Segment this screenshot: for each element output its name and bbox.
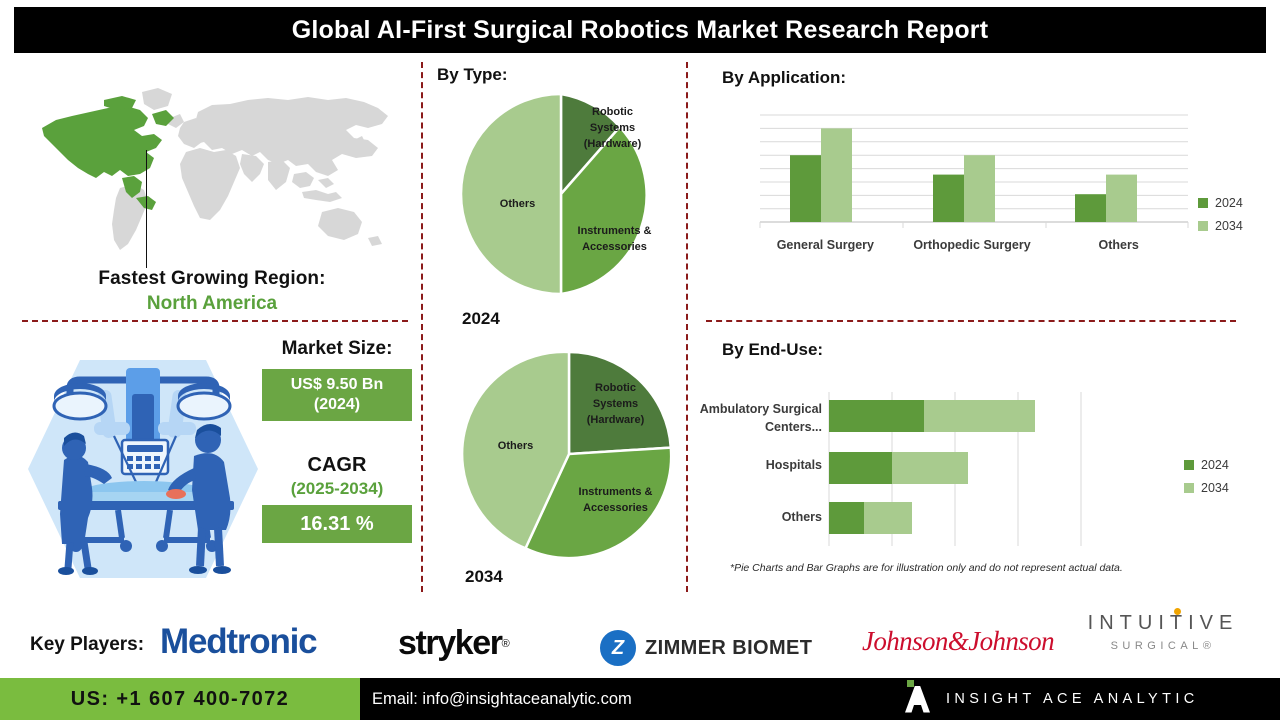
by-enduse-legend: 2024 2034 (1184, 458, 1229, 504)
footer-email-text: Email: info@insightaceanalytic.com (372, 690, 632, 709)
divider-vertical-left (421, 62, 423, 592)
legend-swatch-2024 (1198, 198, 1208, 208)
intuitive-wordmark: INTUITIVE (1068, 612, 1258, 635)
cagr-years: (2025-2034) (262, 479, 412, 499)
fastest-growing-region-title: Fastest Growing Region: (16, 268, 408, 290)
header-bar: Global AI-First Surgical Robotics Market… (14, 7, 1266, 53)
divider-horizontal-right (706, 320, 1236, 322)
footer-phone-text: US: +1 607 400-7072 (71, 688, 289, 711)
bar-category-label: General Surgery (752, 238, 899, 252)
by-application-title: By Application: (722, 68, 846, 88)
by-application-legend: 2024 2034 (1198, 196, 1243, 242)
market-size-value: US$ 9.50 Bn (291, 375, 383, 395)
zimmer-z-mark: Z (600, 630, 636, 666)
cagr-title: CAGR (262, 454, 412, 477)
by-application-categories: General Surgery Orthopedic Surgery Other… (752, 238, 1192, 252)
page-title: Global AI-First Surgical Robotics Market… (292, 16, 989, 45)
bar-category-label: Orthopedic Surgery (899, 238, 1046, 252)
logo-johnson-and-johnson: Johnson&Johnson (862, 626, 1054, 657)
pie-2034-year: 2034 (465, 567, 503, 587)
legend-swatch-2024 (1184, 460, 1194, 470)
hbar-category-label: Others (690, 508, 822, 526)
logo-medtronic: Medtronic (160, 622, 316, 662)
legend-label-2024: 2024 (1215, 196, 1243, 210)
infographic-page: Global AI-First Surgical Robotics Market… (0, 0, 1280, 720)
footer-brand-text: INSIGHT ACE ANALYTIC (946, 691, 1199, 707)
key-players-label: Key Players: (30, 634, 144, 656)
by-enduse-category-labels: Ambulatory Surgical Centers... Hospitals… (690, 392, 822, 546)
pie-2034-label-robotic: Robotic Systems (Hardware) (568, 381, 663, 429)
intuitive-subtext: SURGICAL® (1068, 640, 1258, 652)
brand-accent-dot-icon (907, 680, 914, 687)
fastest-growing-region: Fastest Growing Region: North America (16, 268, 408, 315)
legend-swatch-2034 (1198, 221, 1208, 231)
legend-item-2034: 2034 (1184, 481, 1229, 495)
pie-2024-label-robotic: Robotic Systems (Hardware) (565, 105, 660, 153)
market-size-year: (2024) (314, 395, 360, 415)
robotic-surgery-illustration (18, 352, 268, 586)
footer-phone-block[interactable]: US: +1 607 400-7072 (0, 678, 360, 720)
hbar-category-label: Ambulatory Surgical Centers... (690, 400, 822, 436)
hbar-category-label: Hospitals (690, 456, 822, 474)
pie-2034-label-instruments: Instruments & Accessories (568, 485, 663, 517)
insight-ace-a-logo-icon (905, 686, 930, 713)
legend-item-2034: 2034 (1198, 219, 1243, 233)
bar-category-label: Others (1045, 238, 1192, 252)
by-application-bar-chart (752, 112, 1192, 234)
cagr-value: 16.31 % (300, 512, 373, 536)
divider-vertical-right (686, 62, 688, 592)
pie-2024-label-others: Others (470, 197, 565, 213)
market-size-block: Market Size: US$ 9.50 Bn (2024) CAGR (20… (262, 338, 412, 543)
pie-2034-label-others: Others (468, 439, 563, 455)
map-leader-line (146, 150, 147, 268)
fastest-growing-region-value: North America (16, 293, 408, 315)
logo-stryker: stryker® (398, 624, 510, 663)
legend-swatch-2034 (1184, 483, 1194, 493)
legend-item-2024: 2024 (1184, 458, 1229, 472)
logo-intuitive-surgical: INTUITIVE SURGICAL® (1068, 612, 1258, 652)
by-enduse-title: By End-Use: (722, 340, 823, 360)
footer-bar: US: +1 607 400-7072 Email: info@insighta… (0, 678, 1280, 720)
by-type-title: By Type: (437, 65, 508, 85)
registered-mark: ® (502, 638, 510, 650)
market-size-value-box: US$ 9.50 Bn (2024) (262, 369, 412, 421)
legend-label-2034: 2034 (1201, 481, 1229, 495)
market-size-title: Market Size: (262, 338, 412, 360)
legend-item-2024: 2024 (1198, 196, 1243, 210)
legend-label-2024: 2024 (1201, 458, 1229, 472)
intuitive-dot-icon (1174, 608, 1181, 615)
zimmer-biomet-text: ZIMMER BIOMET (645, 637, 812, 660)
cagr-value-box: 16.31 % (262, 505, 412, 543)
divider-horizontal-left (22, 320, 408, 322)
world-map (16, 78, 408, 263)
by-enduse-bar-chart (828, 392, 1106, 546)
pie-2024-year: 2024 (462, 309, 500, 329)
chart-footnote: *Pie Charts and Bar Graphs are for illus… (730, 562, 1200, 574)
logo-zimmer-biomet: Z ZIMMER BIOMET (600, 630, 812, 666)
footer-brand: INSIGHT ACE ANALYTIC (905, 678, 1199, 720)
pie-2024-label-instruments: Instruments & Accessories (567, 224, 662, 256)
legend-label-2034: 2034 (1215, 219, 1243, 233)
